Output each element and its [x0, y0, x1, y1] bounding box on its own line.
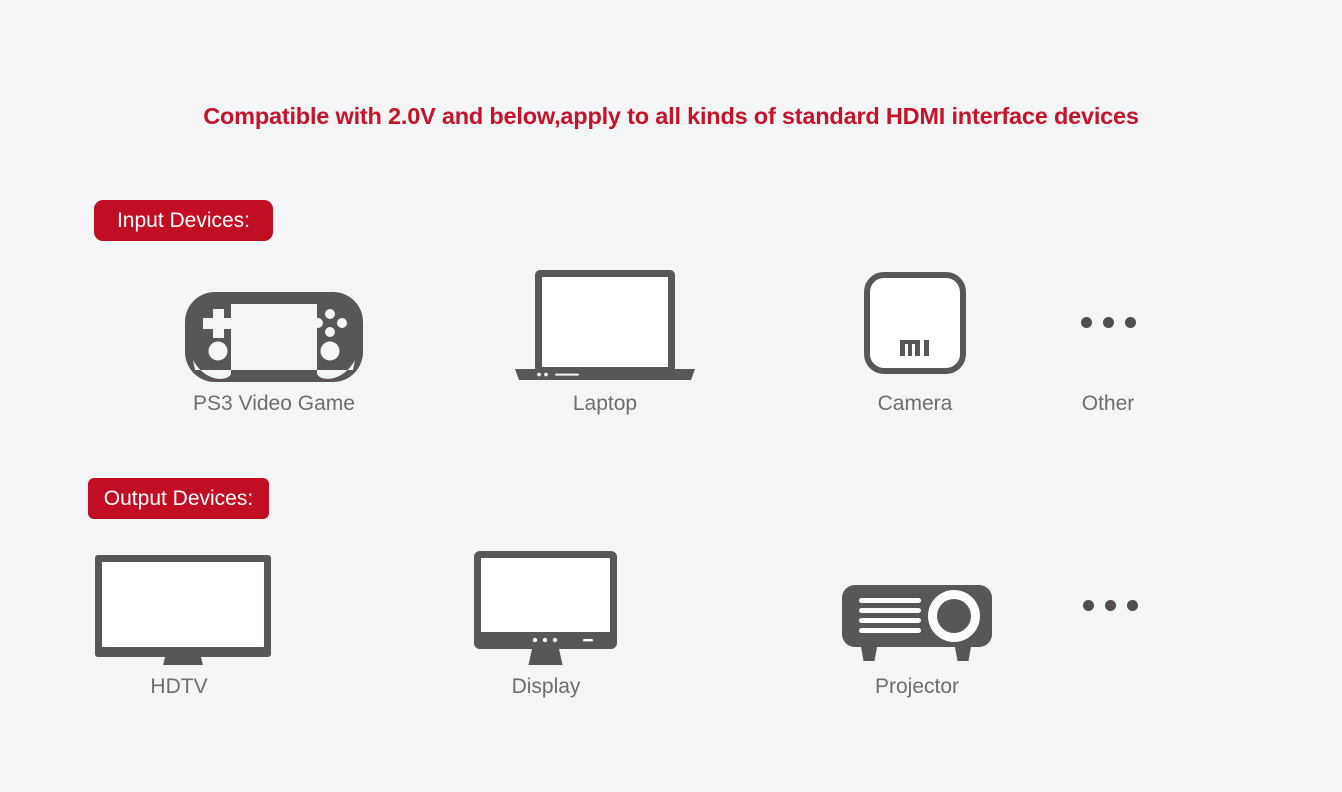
device-label-display: Display	[421, 675, 671, 699]
ellipsis-dot	[1083, 600, 1094, 611]
television-icon	[49, 545, 309, 665]
section-badge-input-label: Input Devices:	[117, 210, 250, 231]
device-camera: Camera	[815, 262, 1015, 416]
infographic-page: Compatible with 2.0V and below,apply to …	[0, 0, 1342, 792]
ellipsis-icon	[1012, 545, 1208, 665]
section-badge-output-devices: Output Devices:	[88, 478, 269, 519]
section-badge-output-label: Output Devices:	[104, 488, 253, 509]
ellipsis-dot	[1103, 317, 1114, 328]
device-label-other: Other	[1010, 392, 1206, 416]
ellipsis-icon	[1010, 262, 1206, 382]
page-title: Compatible with 2.0V and below,apply to …	[0, 103, 1342, 130]
device-other-output	[1012, 545, 1208, 675]
projector-icon	[817, 545, 1017, 665]
monitor-icon	[421, 545, 671, 665]
device-label-laptop: Laptop	[480, 392, 730, 416]
ellipsis-dot	[1081, 317, 1092, 328]
device-label-camera: Camera	[815, 392, 1015, 416]
device-label-ps3-video-game: PS3 Video Game	[144, 392, 404, 416]
device-hdtv: HDTV	[49, 545, 309, 699]
device-ps3-video-game: PS3 Video Game	[144, 262, 404, 416]
output-devices-row: HDTV Display	[0, 545, 1342, 720]
device-label-hdtv: HDTV	[49, 675, 309, 699]
device-display: Display	[421, 545, 671, 699]
ellipsis-dot	[1125, 317, 1136, 328]
handheld-game-console-icon	[144, 262, 404, 382]
device-other-input: Other	[1010, 262, 1206, 416]
device-label-projector: Projector	[817, 675, 1017, 699]
section-badge-input-devices: Input Devices:	[94, 200, 273, 241]
mi-camera-icon	[815, 262, 1015, 382]
device-laptop: Laptop	[480, 262, 730, 416]
laptop-icon	[480, 262, 730, 382]
ellipsis-dot	[1127, 600, 1138, 611]
device-projector: Projector	[817, 545, 1017, 699]
ellipsis-dot	[1105, 600, 1116, 611]
input-devices-row: PS3 Video Game Laptop	[0, 262, 1342, 432]
